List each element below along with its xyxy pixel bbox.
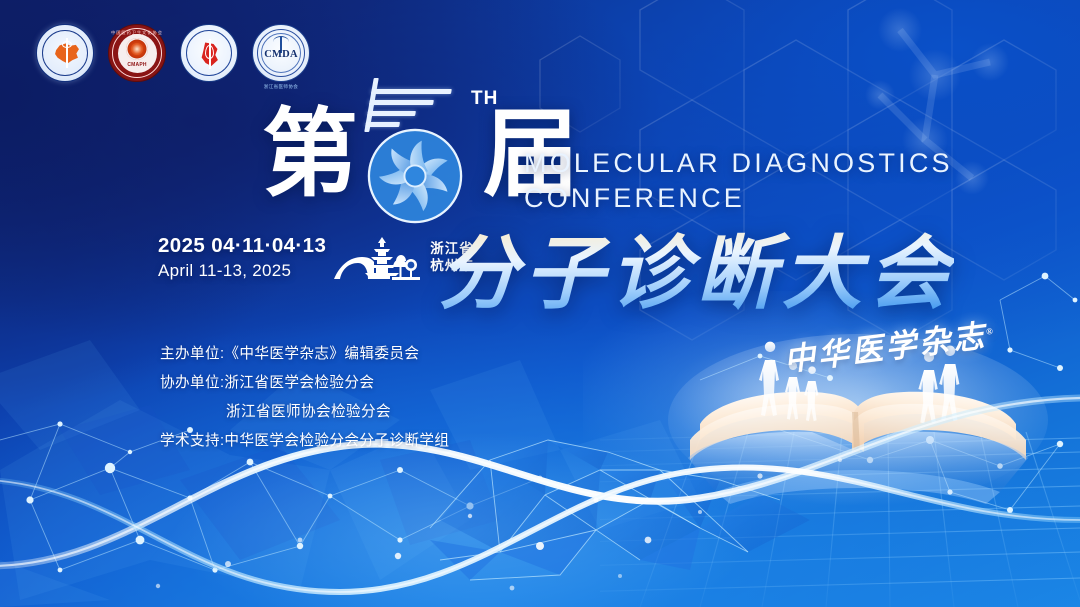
organizer-line: 学术支持:中华医学会检验分会分子诊断学组 — [160, 427, 449, 456]
english-conference-title: MOLECULAR DIAGNOSTICS CONFERENCE — [524, 146, 953, 215]
stylized-five-emblem: TH — [359, 84, 481, 202]
logo-cmaph: 中国医药卫生文化协会 CMAPH — [108, 24, 166, 82]
date-english-format: April 11-13, 2025 — [158, 261, 326, 281]
cmda-logo-icon: CMDA — [252, 24, 310, 82]
organizer-line: 浙江省医师协会检验分会 — [160, 398, 449, 427]
date-chinese-format: 2025 04·11·04·13 — [158, 234, 326, 258]
cmaph-logo-icon: 中国医药卫生文化协会 CMAPH — [108, 24, 166, 82]
trademark-symbol: ® — [986, 326, 994, 337]
date-location-group: 2025 04·11·04·13 April 11-13, 2025 — [158, 234, 474, 281]
sponsor-logo-row: 中国医药卫生文化协会 CMAPH CMDA 浙江省医师协会 — [36, 24, 310, 89]
five-bars-icon — [364, 78, 470, 132]
date-text: 2025 04·11·04·13 April 11-13, 2025 — [158, 234, 326, 281]
cmaph-abbr: CMAPH — [109, 62, 165, 68]
ordinal-prefix: 第 — [262, 108, 357, 202]
cma-logo-icon — [36, 24, 94, 82]
chinese-conference-subtitle: 分子诊断大会 — [438, 209, 954, 325]
logo-zhejiang-medical-association — [180, 24, 238, 82]
conference-poster: 中国医药卫生文化协会 CMAPH CMDA 浙江省医师协会 — [0, 0, 1080, 607]
organizer-line: 主办单位:《中华医学杂志》编辑委员会 — [160, 340, 449, 369]
cmda-caption: 浙江省医师协会 — [252, 84, 310, 89]
organizer-line: 协办单位:浙江省医学会检验分会 — [160, 369, 449, 398]
zma-logo-icon — [180, 24, 238, 82]
english-title-line-1: MOLECULAR DIAGNOSTICS — [524, 146, 953, 181]
cmda-abbr: CMDA — [253, 49, 309, 60]
logo-chinese-medical-association — [36, 24, 94, 82]
logo-cmda: CMDA 浙江省医师协会 — [252, 24, 310, 89]
hangzhou-landmark-icon — [334, 235, 420, 281]
organizer-text-block: 主办单位:《中华医学杂志》编辑委员会 协办单位:浙江省医学会检验分会 浙江省医师… — [160, 340, 449, 456]
ordinal-th-suffix: TH — [471, 88, 498, 110]
